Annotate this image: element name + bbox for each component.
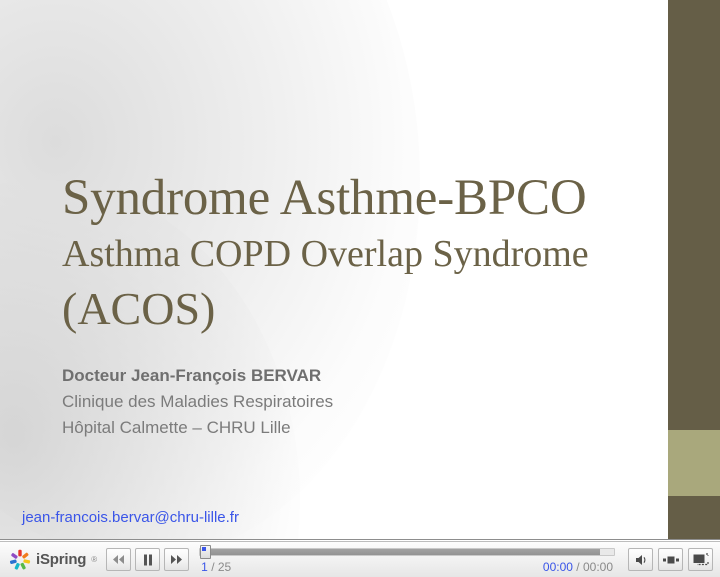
decor-bar-dark-bottom [668, 496, 720, 540]
slide-stage: Syndrome Asthme-BPCO Asthma COPD Overlap… [0, 0, 720, 540]
seek-handle[interactable] [200, 545, 211, 559]
pause-icon [143, 554, 153, 566]
slide-counter-current: 1 [201, 560, 208, 574]
speaker-icon [634, 554, 648, 566]
right-controls-group [623, 548, 715, 571]
layout-button[interactable] [658, 548, 683, 571]
seek-track[interactable] [199, 548, 615, 556]
decor-bar-dark-top [668, 0, 720, 430]
slide-counter-total: 25 [218, 560, 231, 574]
ispring-trademark: ® [91, 555, 97, 564]
slide-title-subtitle: Asthma COPD Overlap Syndrome [62, 228, 642, 280]
slide-title-acronym: (ACOS) [62, 280, 642, 338]
ispring-brand[interactable]: iSpring ® [5, 548, 102, 572]
ispring-pinwheel-icon [8, 548, 32, 572]
slide-author-block: Docteur Jean-François BERVAR Clinique de… [62, 363, 582, 441]
pause-button[interactable] [135, 548, 160, 571]
fullscreen-icon [693, 553, 709, 566]
ispring-presentation-player: Syndrome Asthme-BPCO Asthma COPD Overlap… [0, 0, 720, 577]
timecode-duration: 00:00 [583, 560, 613, 574]
seek-fill [200, 549, 599, 555]
fullscreen-button[interactable] [688, 548, 713, 571]
timecode-display: 00:00 / 00:00 [543, 560, 613, 574]
slide-title-block: Syndrome Asthme-BPCO Asthma COPD Overlap… [62, 168, 642, 338]
slide-counter-separator: / [208, 560, 218, 574]
author-email-link[interactable]: jean-francois.bervar@chru-lille.fr [22, 509, 239, 526]
forward-button[interactable] [164, 548, 189, 571]
volume-button[interactable] [628, 548, 653, 571]
timecode-separator: / [573, 560, 583, 574]
ispring-brand-name: iSpring [36, 551, 86, 568]
rewind-icon [112, 554, 125, 565]
timecode-elapsed: 00:00 [543, 560, 573, 574]
slide-counter: 1 / 25 [201, 560, 231, 574]
player-toolbar: iSpring ® 1 / 25 [0, 541, 720, 577]
author-department: Clinique des Maladies Respiratoires [62, 389, 582, 415]
author-name: Docteur Jean-François BERVAR [62, 363, 582, 389]
seek-region[interactable]: 1 / 25 00:00 / 00:00 [199, 545, 615, 575]
slide-title-main: Syndrome Asthme-BPCO [62, 168, 642, 228]
rewind-button[interactable] [106, 548, 131, 571]
decor-bar-accent [668, 430, 720, 496]
layout-icon [663, 556, 679, 564]
forward-icon [170, 554, 183, 565]
author-institution: Hôpital Calmette – CHRU Lille [62, 415, 582, 441]
